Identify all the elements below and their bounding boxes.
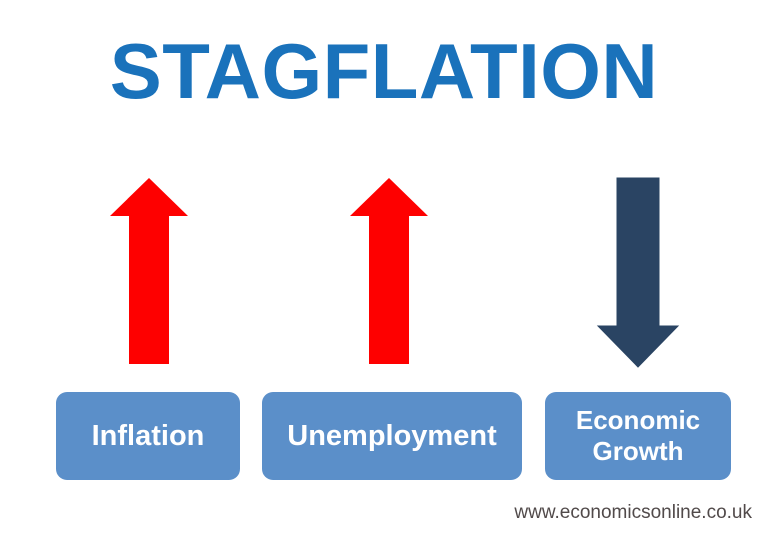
- source-url: www.economicsonline.co.uk: [0, 500, 752, 526]
- concept-box-economic-growth[interactable]: Economic Growth: [545, 392, 731, 480]
- concept-box-inflation-label: Inflation: [92, 420, 205, 452]
- concept-box-unemployment[interactable]: Unemployment: [262, 392, 522, 480]
- arrow-up-inflation-icon: [108, 176, 190, 366]
- page-title: STAGFLATION: [0, 28, 768, 114]
- diagram-canvas: STAGFLATION Inflation Unemployment Econo…: [0, 0, 768, 545]
- arrow-down-economic-growth-icon: [596, 176, 680, 369]
- concept-box-inflation[interactable]: Inflation: [56, 392, 240, 480]
- concept-box-economic-growth-label: Economic Growth: [576, 405, 700, 467]
- concept-box-unemployment-label: Unemployment: [287, 420, 496, 452]
- arrow-up-unemployment-icon: [348, 176, 430, 366]
